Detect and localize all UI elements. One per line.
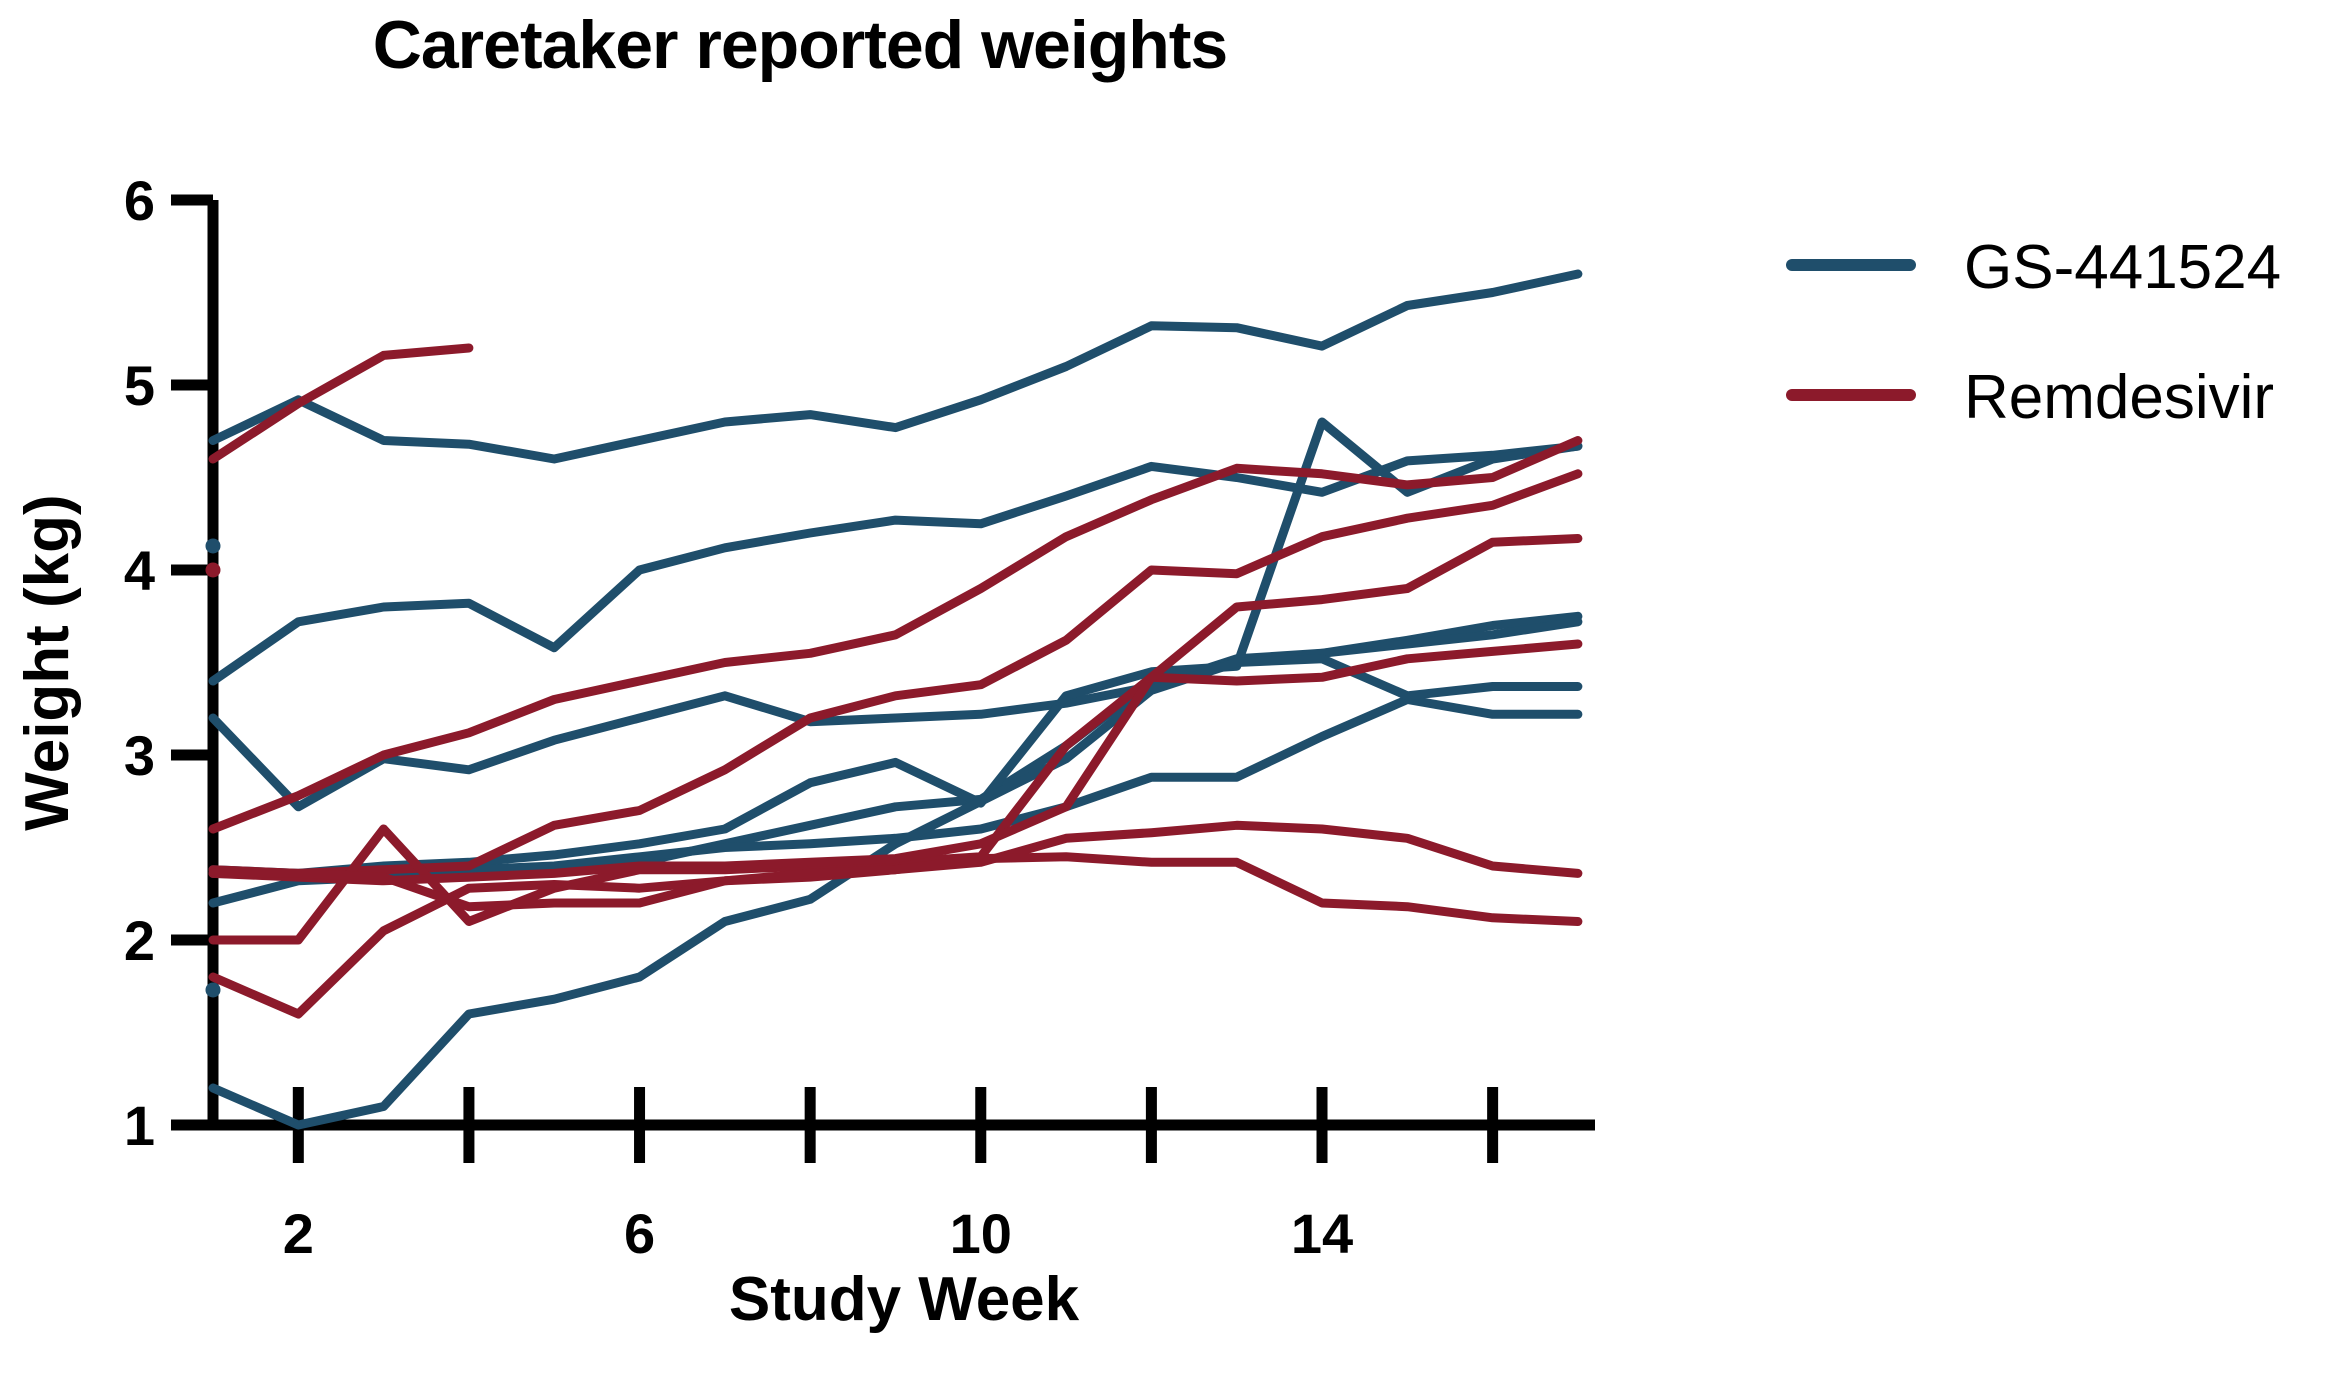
- data-point-1: [206, 563, 221, 578]
- x-axis-tick-label: 14: [1291, 1202, 1353, 1265]
- x-axis-tick-label: 2: [283, 1202, 314, 1265]
- x-axis-tick-label: 10: [950, 1202, 1012, 1265]
- series-layer: [213, 274, 1578, 1125]
- line-chart: 123456261014Weight (kg)Study Week GS-441…: [0, 0, 2344, 1400]
- y-axis-tick-label: 6: [124, 169, 155, 232]
- data-point-0: [206, 538, 221, 553]
- chart-legend: GS-441524Remdesivir: [1792, 233, 2281, 432]
- x-axis-tick-label: 6: [624, 1202, 655, 1265]
- series-line-rdv-6: [213, 825, 1578, 1014]
- x-axis-title: Study Week: [729, 1265, 1080, 1334]
- y-axis-tick-label: 4: [124, 539, 155, 602]
- y-axis-tick-label: 2: [124, 909, 155, 972]
- data-point-2: [206, 982, 221, 997]
- legend-label-remdesivir: Remdesivir: [1964, 363, 2274, 432]
- series-line-gs-1: [213, 274, 1578, 459]
- legend-label-gs-441524: GS-441524: [1964, 233, 2281, 302]
- y-axis-tick-label: 1: [124, 1094, 155, 1157]
- y-axis-tick-label: 3: [124, 724, 155, 787]
- y-axis-tick-label: 5: [124, 354, 155, 417]
- series-line-rdv-3: [213, 474, 1578, 874]
- series-line-rdv-2: [213, 441, 1578, 830]
- chart-page: Caretaker reported weights 123456261014W…: [0, 0, 2344, 1400]
- y-axis-title: Weight (kg): [13, 494, 82, 830]
